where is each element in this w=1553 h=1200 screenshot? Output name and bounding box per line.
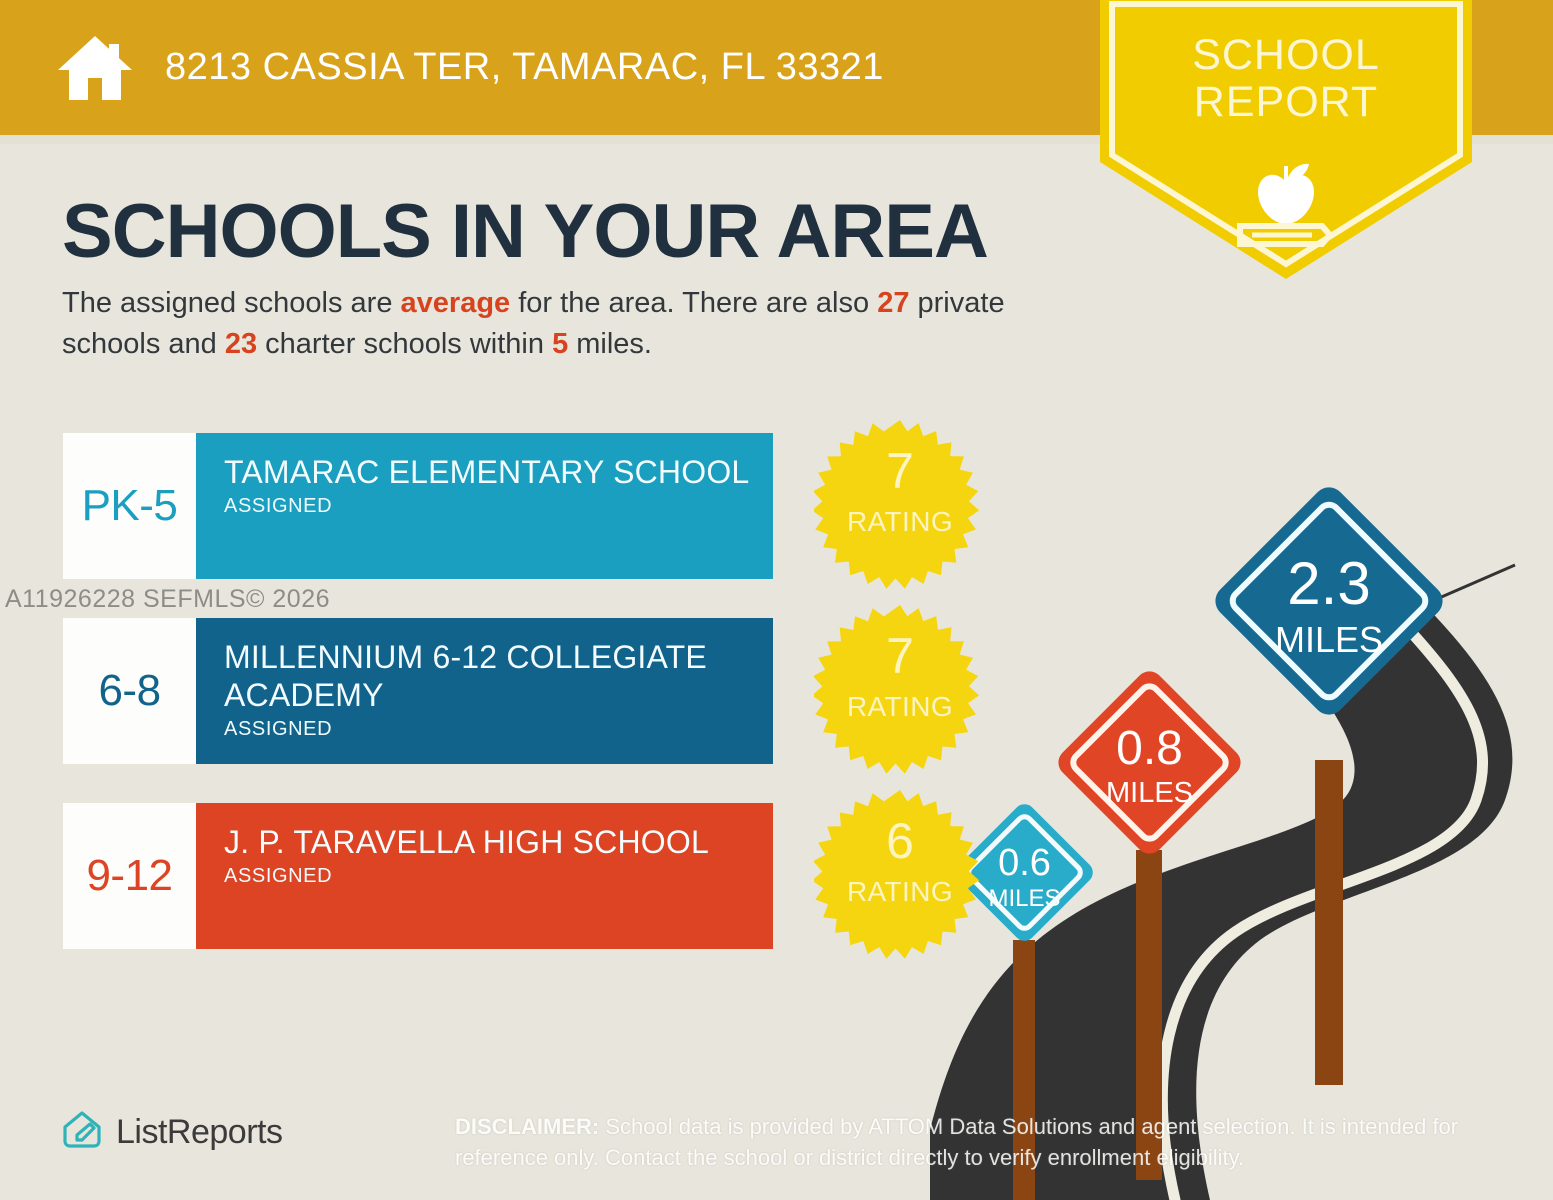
header-content: 8213 CASSIA TER, TAMARAC, FL 33321 bbox=[55, 0, 884, 135]
school-name: J. P. TARAVELLA HIGH SCHOOL bbox=[224, 823, 773, 861]
rating-value: 7 bbox=[814, 631, 986, 681]
rating-value: 7 bbox=[814, 446, 986, 496]
rating-starburst: 6 RATING bbox=[814, 790, 986, 962]
subtitle-text-2: for the area. There are also bbox=[510, 287, 877, 319]
subtitle-highlight-average: average bbox=[401, 287, 511, 319]
property-address: 8213 CASSIA TER, TAMARAC, FL 33321 bbox=[165, 46, 884, 89]
school-report-badge: SCHOOL REPORT bbox=[1100, 0, 1472, 279]
badge-line-1: SCHOOL bbox=[1100, 32, 1472, 79]
page-subtitle: The assigned schools are average for the… bbox=[62, 283, 1092, 365]
grade-badge: 9-12 bbox=[63, 803, 196, 949]
listreports-logo[interactable]: ListReports bbox=[60, 1108, 282, 1157]
rating-value: 6 bbox=[814, 816, 986, 866]
rating-label: RATING bbox=[814, 506, 986, 538]
school-status: ASSIGNED bbox=[224, 865, 773, 888]
school-name: MILLENNIUM 6-12 COLLEGIATE ACADEMY bbox=[224, 638, 773, 714]
grade-badge: PK-5 bbox=[63, 433, 196, 579]
school-list: PK-5 TAMARAC ELEMENTARY SCHOOL ASSIGNED … bbox=[63, 433, 863, 988]
subtitle-text-1: The assigned schools are bbox=[62, 287, 401, 319]
school-status: ASSIGNED bbox=[224, 495, 773, 518]
road-illustration: 2.3 MILES 0.8 MILES 0.6 MILES bbox=[930, 470, 1553, 1200]
rating-starburst: 7 RATING bbox=[814, 420, 986, 592]
listreports-house-icon bbox=[60, 1108, 104, 1157]
sign-unit-3: MILES bbox=[1198, 622, 1460, 658]
school-row[interactable]: 6-8 MILLENNIUM 6-12 COLLEGIATE ACADEMY A… bbox=[63, 618, 863, 764]
sign-post-3 bbox=[1315, 760, 1343, 1085]
mls-watermark: A11926228 SEFMLS© 2026 bbox=[5, 585, 330, 614]
grade-badge: 6-8 bbox=[63, 618, 196, 764]
school-report-infographic: 2.3 MILES 0.8 MILES 0.6 MILES bbox=[0, 0, 1553, 1200]
rating-label: RATING bbox=[814, 691, 986, 723]
listreports-logo-text: ListReports bbox=[116, 1113, 282, 1152]
disclaimer-text: DISCLAIMER: School data is provided by A… bbox=[455, 1111, 1485, 1173]
badge-title: SCHOOL REPORT bbox=[1100, 32, 1472, 126]
badge-line-2: REPORT bbox=[1100, 79, 1472, 126]
school-info-bar: TAMARAC ELEMENTARY SCHOOL ASSIGNED bbox=[196, 433, 773, 579]
subtitle-text-4: charter schools within bbox=[257, 328, 552, 360]
school-status: ASSIGNED bbox=[224, 718, 773, 741]
sign-value-2: 0.8 bbox=[1042, 725, 1257, 773]
subtitle-text-5: miles. bbox=[568, 328, 652, 360]
page-title: SCHOOLS IN YOUR AREA bbox=[62, 188, 988, 275]
school-row[interactable]: PK-5 TAMARAC ELEMENTARY SCHOOL ASSIGNED … bbox=[63, 433, 863, 579]
subtitle-highlight-private-count: 27 bbox=[877, 287, 909, 319]
disclaimer-label: DISCLAIMER: bbox=[455, 1114, 599, 1139]
subtitle-highlight-charter-count: 23 bbox=[225, 328, 257, 360]
rating-label: RATING bbox=[814, 876, 986, 908]
sign-value-3: 2.3 bbox=[1198, 554, 1460, 614]
subtitle-highlight-radius: 5 bbox=[552, 328, 568, 360]
school-row[interactable]: 9-12 J. P. TARAVELLA HIGH SCHOOL ASSIGNE… bbox=[63, 803, 863, 949]
school-name: TAMARAC ELEMENTARY SCHOOL bbox=[224, 453, 773, 491]
disclaimer-body: School data is provided by ATTOM Data So… bbox=[455, 1114, 1458, 1170]
rating-starburst: 7 RATING bbox=[814, 605, 986, 777]
home-icon bbox=[55, 32, 135, 104]
school-info-bar: J. P. TARAVELLA HIGH SCHOOL ASSIGNED bbox=[196, 803, 773, 949]
school-info-bar: MILLENNIUM 6-12 COLLEGIATE ACADEMY ASSIG… bbox=[196, 618, 773, 764]
